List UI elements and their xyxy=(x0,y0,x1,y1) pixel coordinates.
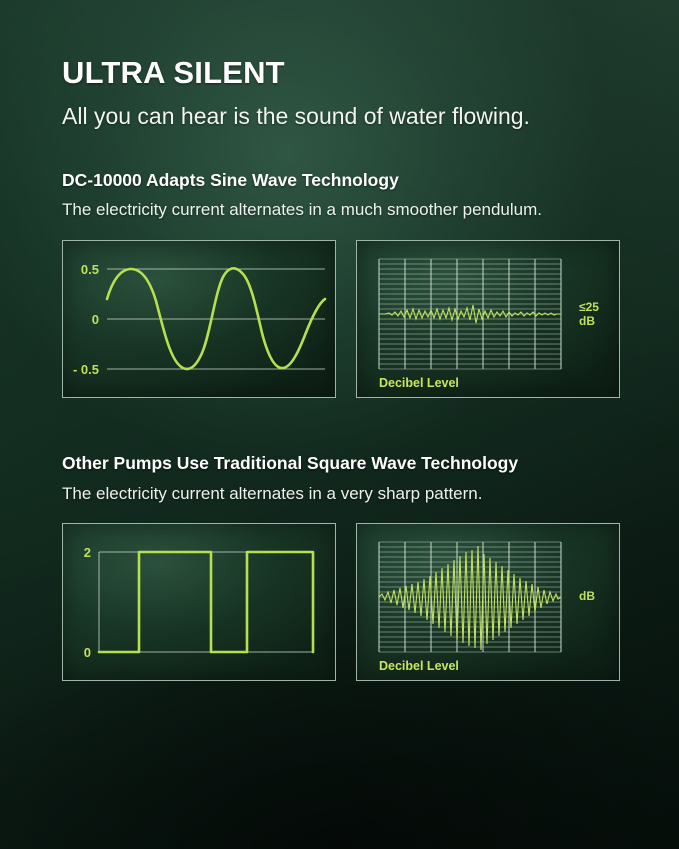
decibel-grid-horizontal-quiet xyxy=(379,259,561,369)
section-2-panels: 2 0 xyxy=(62,523,623,681)
decibel-chart-quiet: ≤25 dB Decibel Level xyxy=(357,241,619,397)
section-1-body: The electricity current alternates in a … xyxy=(62,199,602,221)
infographic-page: ULTRA SILENT All you can hear is the sou… xyxy=(0,0,679,849)
decibel-chart-panel-loud: dB Decibel Level xyxy=(356,523,620,681)
sine-y-label-top: 0.5 xyxy=(81,262,99,277)
square-y-label-top: 2 xyxy=(84,545,91,560)
decibel-value-line1-loud: dB xyxy=(579,589,595,603)
decibel-chart-panel-quiet: ≤25 dB Decibel Level xyxy=(356,240,620,398)
decibel-value-line1-quiet: ≤25 xyxy=(579,300,599,314)
section-1-title: DC-10000 Adapts Sine Wave Technology xyxy=(62,169,623,193)
section-2-title: Other Pumps Use Traditional Square Wave … xyxy=(62,452,623,476)
sine-y-label-mid: 0 xyxy=(92,312,99,327)
content-wrapper: ULTRA SILENT All you can hear is the sou… xyxy=(0,0,679,681)
sine-wave-chart: 0.5 0 - 0.5 xyxy=(63,241,335,397)
section-2-body: The electricity current alternates in a … xyxy=(62,483,602,505)
decibel-caption-loud: Decibel Level xyxy=(379,659,459,673)
page-title: ULTRA SILENT xyxy=(62,56,623,90)
decibel-value-line2-quiet: dB xyxy=(579,314,595,328)
decibel-chart-loud: dB Decibel Level xyxy=(357,524,619,680)
square-wave-path xyxy=(99,552,313,652)
page-subtitle: All you can hear is the sound of water f… xyxy=(62,102,623,131)
decibel-caption-quiet: Decibel Level xyxy=(379,376,459,390)
sine-y-label-bottom: - 0.5 xyxy=(73,362,99,377)
section-1-panels: 0.5 0 - 0.5 xyxy=(62,240,623,398)
decibel-signal-path-loud xyxy=(379,546,561,650)
square-wave-chart-panel: 2 0 xyxy=(62,523,336,681)
square-wave-chart: 2 0 xyxy=(63,524,335,680)
square-y-label-bottom: 0 xyxy=(84,645,91,660)
sine-wave-chart-panel: 0.5 0 - 0.5 xyxy=(62,240,336,398)
